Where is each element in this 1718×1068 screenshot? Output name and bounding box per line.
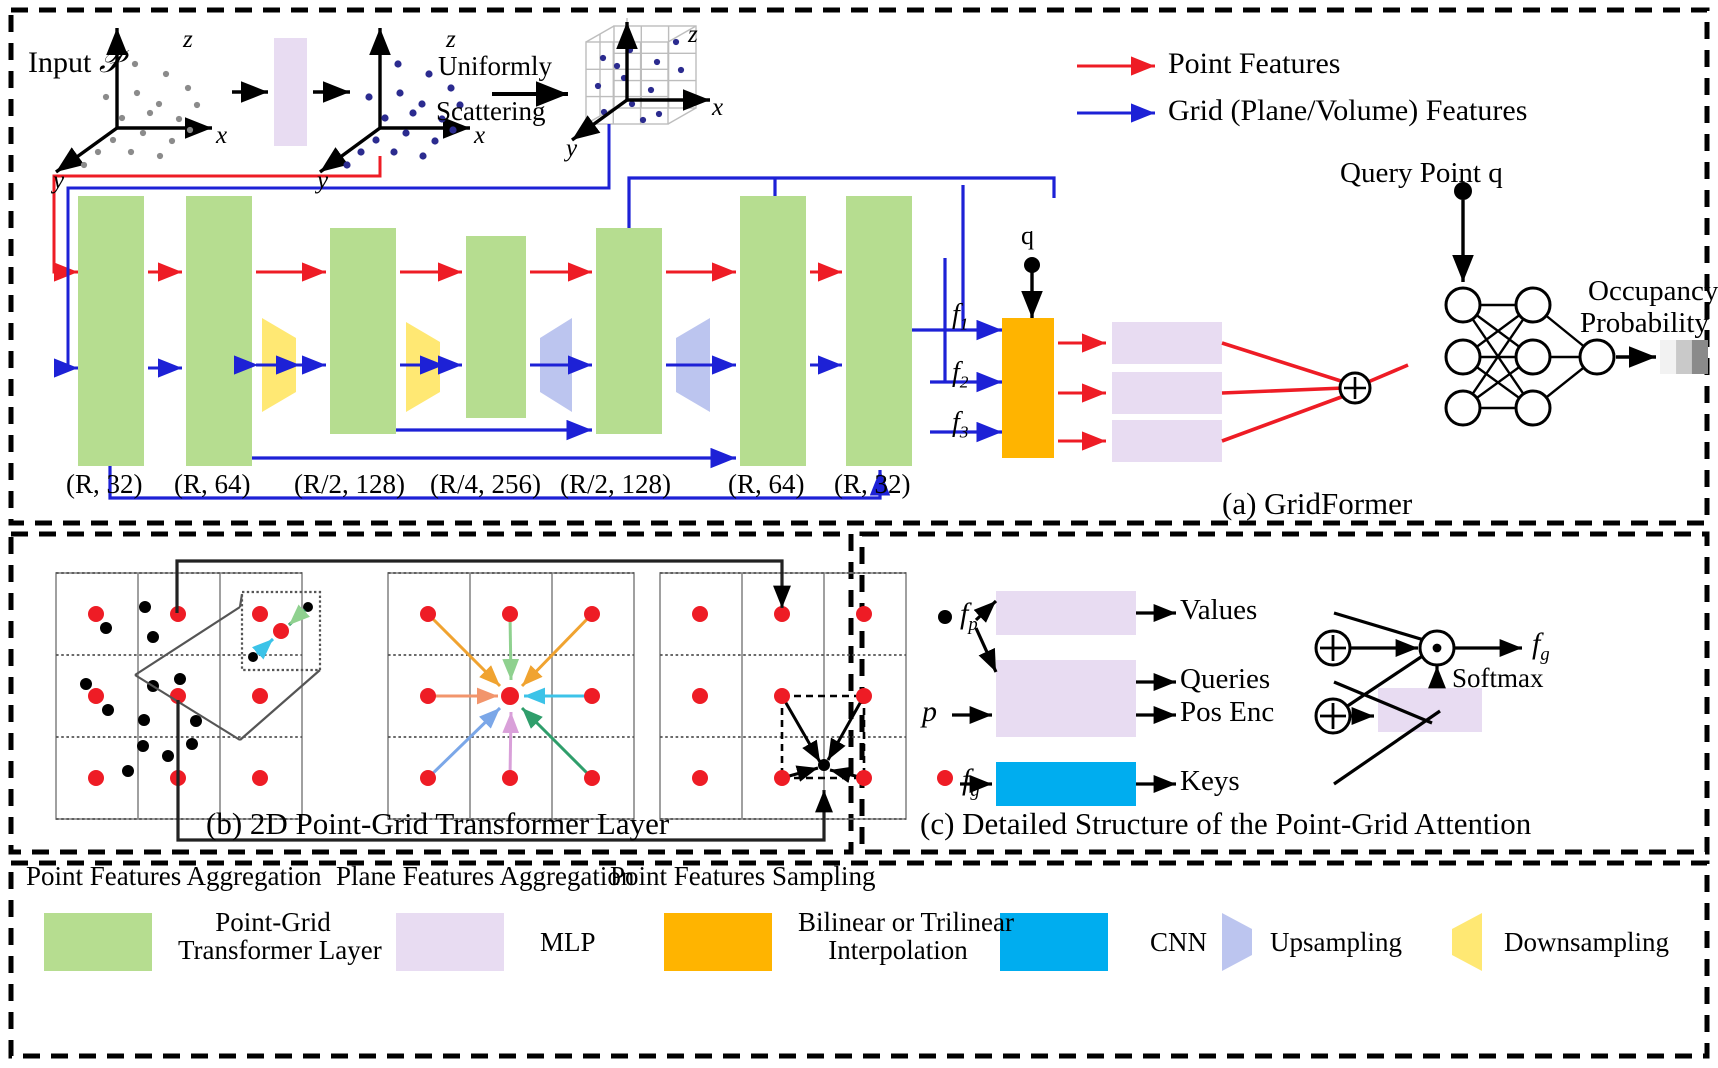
sum-2 [1316, 699, 1350, 733]
panel-b-grid-3 [660, 573, 906, 819]
mlp-block-input [274, 38, 307, 146]
query-point-label: Query Point q [1340, 158, 1503, 188]
interp-to-mlp-arrows [1058, 343, 1106, 441]
legend-label-cnn: CNN [1150, 928, 1207, 956]
axis-y-3: y [566, 136, 577, 162]
figure-root: Input 𝒫 z x y z x y Uniformly Scattering… [0, 0, 1718, 1068]
panel-b-grid-2 [388, 573, 634, 819]
panel-c-branch-posenc: Pos Enc [1180, 697, 1274, 727]
callout-frame [135, 592, 320, 740]
panel-c-input-fg: fg [962, 764, 980, 801]
panel-a-caption: (a) GridFormer [1222, 488, 1412, 521]
legend-label-grid-features: Grid (Plane/Volume) Features [1168, 95, 1527, 127]
block-label-0: (R, 32) [66, 470, 143, 498]
block-label-3: (R/4, 256) [430, 470, 541, 498]
mlp-to-sum [1222, 343, 1408, 441]
fp-dot [938, 610, 952, 624]
scatter-label-line2: Scattering [436, 97, 545, 125]
panel-c-branch-values: Values [1180, 595, 1257, 625]
block-label-1: (R, 64) [174, 470, 251, 498]
axis-x-1: x [216, 123, 227, 149]
mlp-blocks-head [1112, 322, 1222, 462]
input-label: Input 𝒫 [28, 46, 121, 79]
block-label-4: (R/2, 128) [560, 470, 671, 498]
axis-z-1: z [183, 27, 193, 53]
panel-c-branch-keys: Keys [1180, 766, 1240, 796]
feature-label-f1: f1 [952, 300, 968, 334]
panel-b-subcaption-0: Point Features Aggregation [26, 862, 321, 890]
dot-product [1420, 631, 1454, 665]
sum-1 [1316, 631, 1350, 665]
block-label-5: (R, 64) [728, 470, 805, 498]
panel-c-caption: (c) Detailed Structure of the Point-Grid… [920, 808, 1531, 841]
legend-label-transformer: Point-Grid Transformer Layer [178, 908, 368, 965]
scatter-label-line1: Uniformly [438, 52, 552, 80]
axis-y-1: y [53, 168, 64, 194]
panel-c-output-fg: fg [1532, 628, 1550, 665]
legend-swatch-mlp [396, 913, 504, 971]
legend-label-interp: Bilinear or Trilinear Interpolation [798, 908, 998, 965]
axis-x-2: x [474, 123, 485, 149]
q-small-label: q [1021, 222, 1034, 249]
panel-c-input-p: p [922, 696, 937, 728]
panel-b-subcaption-1: Plane Features Aggregation [336, 862, 634, 890]
legend-label-point-features: Point Features [1168, 48, 1341, 80]
block-label-6: (R, 32) [834, 470, 911, 498]
q-dot [1024, 257, 1040, 273]
legend-swatch-downsampling [1452, 913, 1482, 971]
panel-b-routing [177, 561, 824, 840]
feature-label-f3: f3 [952, 408, 968, 442]
transformer-blocks [78, 196, 912, 466]
legend-label-downsampling: Downsampling [1504, 928, 1669, 956]
occupancy-swatch [1660, 340, 1708, 374]
block-label-2: (R/2, 128) [294, 470, 405, 498]
panel-c-branch-queries: Queries [1180, 664, 1270, 694]
legend-label-mlp: MLP [540, 928, 596, 956]
panel-b-subcaption-2: Point Features Sampling [610, 862, 876, 890]
axis-x-3: x [712, 95, 723, 121]
panel-c-softmax-label: Softmax [1452, 664, 1544, 692]
occupancy-label-2: Probability [1580, 308, 1709, 338]
panel-c-cnn-block [996, 762, 1136, 806]
axis-z-3: z [688, 22, 698, 48]
legend-swatch-interp [664, 913, 772, 971]
panel-b-grid-1 [56, 573, 320, 819]
occupancy-label-1: Occupancy [1588, 276, 1718, 306]
legend-swatch-upsampling [1222, 913, 1252, 971]
feature-label-f2: f2 [952, 358, 968, 392]
panel-c-input-fp: fp [960, 598, 978, 635]
axis-z-2: z [446, 27, 456, 53]
legend-label-upsampling: Upsampling [1270, 928, 1402, 956]
legend-swatch-cnn [1000, 913, 1108, 971]
panel-b-caption: (b) 2D Point-Grid Transformer Layer [206, 808, 669, 841]
legend-swatch-transformer [44, 913, 152, 971]
fg-dot [937, 770, 953, 786]
interpolation-block [1002, 318, 1054, 458]
axis-y-2: y [317, 168, 328, 194]
